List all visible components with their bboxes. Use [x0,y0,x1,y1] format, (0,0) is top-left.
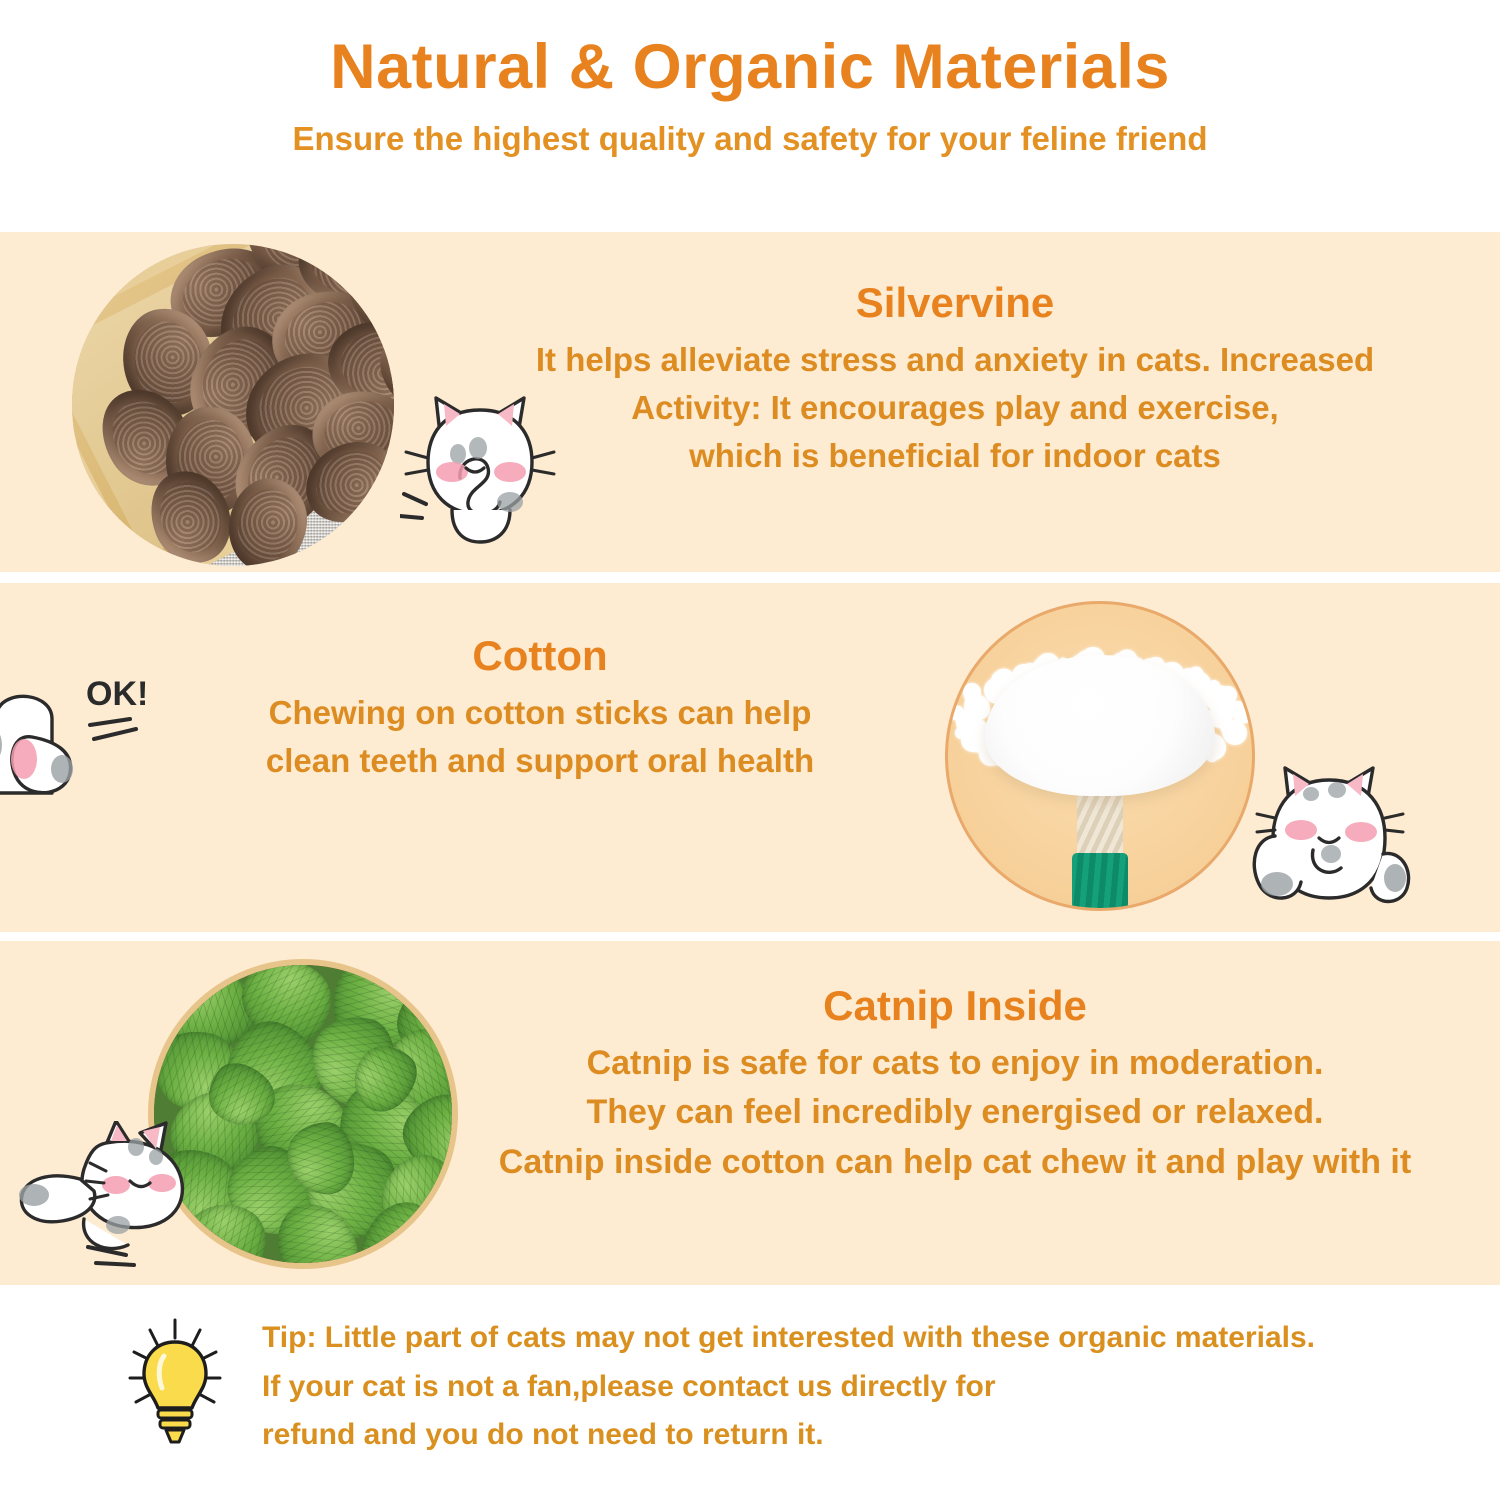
section-silvervine: Silvervine It helps alleviate stress and… [0,232,1500,572]
cotton-photo [945,601,1255,911]
tip-text-block: Tip: Little part of cats may not get int… [262,1314,1442,1460]
section-cotton: OK! Cotton Chewing on cotton sticks can … [0,583,1500,932]
catnip-heading: Catnip Inside [420,983,1490,1029]
cotton-text-block: Cotton Chewing on cotton sticks can help… [160,633,920,785]
tip-line-3: refund and you do not need to return it. [262,1411,1442,1460]
page-subtitle: Ensure the highest quality and safety fo… [293,120,1208,158]
tip-line-2: If your cat is not a fan,please contact … [262,1363,1442,1412]
dried-fruit-cluster [72,244,394,566]
ok-text: OK! [86,675,148,713]
silvervine-heading: Silvervine [430,280,1480,326]
silvervine-line-1: It helps alleviate stress and anxiety in… [430,336,1480,384]
page-header: Natural & Organic Materials Ensure the h… [0,0,1500,232]
catnip-text-block: Catnip Inside Catnip is safe for cats to… [420,983,1490,1187]
cat-mascot-paws-up [1245,758,1425,923]
green-binding [1072,853,1128,911]
cat-mascot-rolling [10,1121,240,1271]
catnip-line-2: They can feel incredibly energised or re… [420,1088,1490,1137]
cotton-pom [975,646,1225,806]
silvervine-photo [72,244,394,566]
cotton-line-2: clean teeth and support oral health [160,737,920,785]
tip-line-1: Tip: Little part of cats may not get int… [262,1314,1442,1363]
tip-section: Tip: Little part of cats may not get int… [0,1300,1500,1500]
page-title: Natural & Organic Materials [330,34,1170,100]
silvervine-line-2: Activity: It encourages play and exercis… [430,384,1480,432]
cotton-heading: Cotton [160,633,920,679]
cotton-line-1: Chewing on cotton sticks can help [160,689,920,737]
lightbulb-icon [120,1316,230,1446]
cat-mascot-ok: OK! [0,663,180,813]
silvervine-text-block: Silvervine It helps alleviate stress and… [430,280,1480,480]
catnip-line-1: Catnip is safe for cats to enjoy in mode… [420,1039,1490,1088]
silvervine-line-3: which is beneficial for indoor cats [430,432,1480,480]
catnip-line-3: Catnip inside cotton can help cat chew i… [420,1138,1490,1187]
section-catnip: Catnip Inside Catnip is safe for cats to… [0,941,1500,1285]
